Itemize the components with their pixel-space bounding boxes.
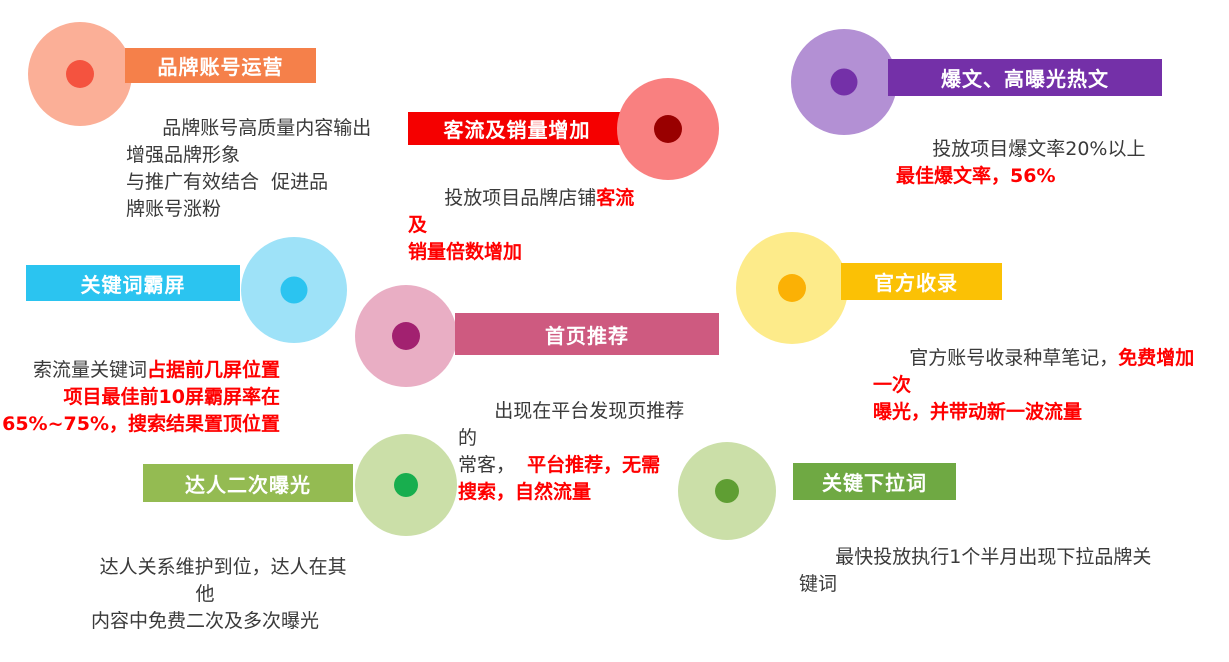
description-key-dropdown-keyword: 最快投放执行1个半月出现下拉品牌关 键词 <box>799 517 1179 625</box>
description-traffic-and-sales-increase: 投放项目品牌店铺客流及 销量倍数增加 <box>408 158 648 293</box>
circle-dot-keyword-screen-domination <box>281 277 308 304</box>
description-plain-keyword-screen-domination: 索流量关键词 <box>33 359 147 381</box>
description-influencer-secondary-exposure: 达人关系维护到位，达人在其他 内容中免费二次及多次曝光 <box>55 527 355 662</box>
circle-brand-account-operation <box>28 22 132 126</box>
description-viral-high-exposure-post: 投放项目爆文率20%以上 最佳爆文率，56% <box>896 109 1196 217</box>
description-plain-key-dropdown-keyword: 最快投放执行1个半月出现下拉品牌关 键词 <box>799 546 1151 595</box>
circle-dot-homepage-recommendation <box>392 322 420 350</box>
title-label-traffic-and-sales-increase: 客流及销量增加 <box>444 114 591 143</box>
circle-dot-brand-account-operation <box>66 60 94 88</box>
title-bar-influencer-secondary-exposure[interactable]: 达人二次曝光 <box>143 464 353 502</box>
title-bar-key-dropdown-keyword[interactable]: 关键下拉词 <box>793 463 956 500</box>
circle-dot-official-indexing <box>778 274 806 302</box>
circle-viral-high-exposure-post <box>791 29 897 135</box>
circle-influencer-secondary-exposure <box>355 434 457 536</box>
title-bar-homepage-recommendation[interactable]: 首页推荐 <box>455 313 719 355</box>
circle-official-indexing <box>736 232 848 344</box>
description-official-indexing: 官方账号收录种草笔记，免费增加一次 曝光，并带动新一波流量 <box>873 318 1203 453</box>
description-plain-traffic-and-sales-increase: 投放项目品牌店铺 <box>444 187 596 209</box>
description-keyword-screen-domination: 索流量关键词占据前几屏位置 项目最佳前10屏霸屏率在 65%~75%，搜索结果置… <box>0 330 280 465</box>
title-bar-official-indexing[interactable]: 官方收录 <box>841 263 1002 300</box>
title-bar-brand-account-operation[interactable]: 品牌账号运营 <box>125 48 316 83</box>
circle-dot-traffic-and-sales-increase <box>654 115 682 143</box>
title-label-homepage-recommendation: 首页推荐 <box>545 320 629 349</box>
description-homepage-recommendation: 出现在平台发现页推荐 的 常客， 平台推荐，无需 搜索，自然流量 <box>458 371 708 533</box>
circle-keyword-screen-domination <box>241 237 347 343</box>
circle-dot-viral-high-exposure-post <box>831 69 858 96</box>
description-brand-account-operation: 品牌账号高质量内容输出 增强品牌形象 与推广有效结合 促进品 牌账号涨粉 <box>126 88 426 250</box>
title-label-key-dropdown-keyword: 关键下拉词 <box>822 467 927 496</box>
title-bar-traffic-and-sales-increase[interactable]: 客流及销量增加 <box>408 112 626 145</box>
title-label-influencer-secondary-exposure: 达人二次曝光 <box>185 469 311 498</box>
description-plain-influencer-secondary-exposure: 达人关系维护到位，达人在其他 内容中免费二次及多次曝光 <box>91 556 347 632</box>
title-bar-keyword-screen-domination[interactable]: 关键词霸屏 <box>26 265 240 301</box>
circle-homepage-recommendation <box>355 285 457 387</box>
title-label-official-indexing: 官方收录 <box>874 267 958 296</box>
circle-dot-influencer-secondary-exposure <box>394 473 418 497</box>
description-plain-brand-account-operation: 品牌账号高质量内容输出 增强品牌形象 与推广有效结合 促进品 牌账号涨粉 <box>126 117 371 220</box>
title-bar-viral-high-exposure-post[interactable]: 爆文、高曝光热文 <box>888 59 1162 96</box>
title-label-viral-high-exposure-post: 爆文、高曝光热文 <box>941 63 1109 92</box>
description-highlight-viral-high-exposure-post: 最佳爆文率，56% <box>896 165 1055 187</box>
infographic-canvas: 品牌账号运营 品牌账号高质量内容输出 增强品牌形象 与推广有效结合 促进品 牌账… <box>0 0 1229 590</box>
title-label-brand-account-operation: 品牌账号运营 <box>158 51 284 80</box>
title-label-keyword-screen-domination: 关键词霸屏 <box>81 269 186 298</box>
description-plain-viral-high-exposure-post: 投放项目爆文率20%以上 <box>932 138 1145 160</box>
description-plain-official-indexing: 官方账号收录种草笔记， <box>909 347 1118 369</box>
circle-dot-key-dropdown-keyword <box>715 479 739 503</box>
